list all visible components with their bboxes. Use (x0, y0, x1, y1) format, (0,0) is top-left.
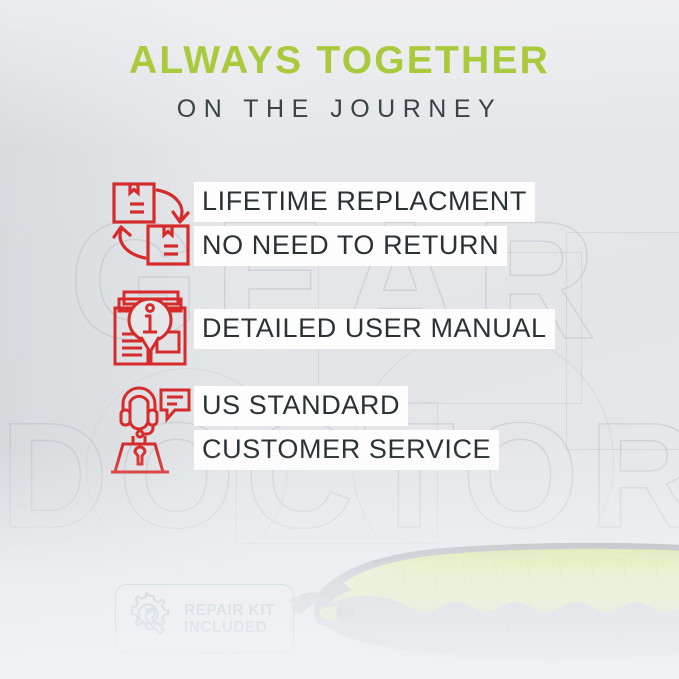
surface-line-1 (0, 582, 140, 583)
feature-line: NO NEED TO RETURN (194, 226, 507, 266)
feature-line: DETAILED USER MANUAL (194, 309, 555, 349)
customer-support-agent-icon (108, 382, 194, 474)
user-manual-book-icon (108, 288, 194, 370)
feature-text-support: US STANDARD CUSTOMER SERVICE (194, 386, 499, 470)
feature-row-manual: DETAILED USER MANUAL (108, 288, 555, 370)
feature-text-manual: DETAILED USER MANUAL (194, 309, 555, 349)
infographic-canvas: GEAR DOCTORS ALWAYS TOGETHER ON THE JOUR… (0, 0, 679, 679)
repair-kit-badge: REPAIR KIT INCLUDED (115, 584, 294, 653)
heading-block: ALWAYS TOGETHER ON THE JOURNEY (0, 38, 679, 124)
floor-glow (0, 449, 679, 679)
badge-line-2: INCLUDED (184, 619, 275, 636)
page-title: ALWAYS TOGETHER (0, 38, 679, 84)
gear-wrench-icon (126, 592, 174, 645)
feature-row-replacement: LIFETIME REPLACMENT NO NEED TO RETURN (108, 180, 535, 268)
feature-row-support: US STANDARD CUSTOMER SERVICE (108, 382, 499, 474)
page-subtitle: ON THE JOURNEY (0, 94, 679, 124)
feature-line: LIFETIME REPLACMENT (194, 182, 535, 222)
feature-line: CUSTOMER SERVICE (194, 430, 499, 470)
badge-line-1: REPAIR KIT (184, 602, 275, 619)
repair-kit-label: REPAIR KIT INCLUDED (184, 602, 275, 636)
product-image-sleeping-pad (282, 528, 679, 679)
feature-line: US STANDARD (194, 386, 408, 426)
product-shadow (300, 636, 679, 676)
feature-text-replacement: LIFETIME REPLACMENT NO NEED TO RETURN (194, 182, 535, 266)
bg-ghost-rect-2 (566, 232, 679, 450)
exchange-boxes-icon (108, 180, 194, 268)
